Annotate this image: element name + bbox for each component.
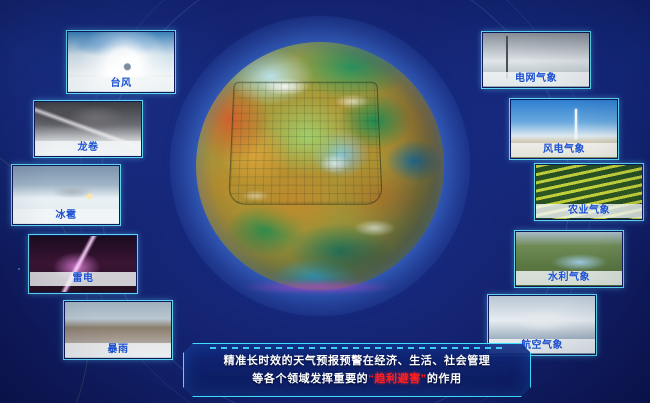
card-power-grid[interactable]: 电网气象 <box>481 31 591 89</box>
card-tornado[interactable]: 龙卷 <box>33 100 143 158</box>
card-water[interactable]: 水利气象 <box>514 230 624 288</box>
card-label-lightning: 雷电 <box>30 272 136 286</box>
weather-globe <box>196 42 444 290</box>
banner-dashed-rule <box>210 347 504 349</box>
banner-line2-suffix: 的作用 <box>427 373 462 385</box>
card-label-wind-power: 风电气象 <box>511 143 617 157</box>
card-label-hail: 冰雹 <box>13 209 119 223</box>
card-lightning[interactable]: 雷电 <box>28 234 138 294</box>
banner-line-2: 等各个领域发挥重要的“趋利避害”的作用 <box>252 371 461 387</box>
card-typhoon[interactable]: 台风 <box>66 30 176 94</box>
card-label-typhoon: 台风 <box>68 77 174 91</box>
card-rainstorm[interactable]: 暴雨 <box>63 300 173 360</box>
card-label-tornado: 龙卷 <box>35 141 141 155</box>
card-wind-power[interactable]: 风电气象 <box>509 98 619 160</box>
card-agriculture[interactable]: 农业气象 <box>534 163 644 221</box>
globe-bottom-glow <box>238 280 398 294</box>
banner-line2-prefix: 等各个领域发挥重要的 <box>252 373 368 385</box>
card-hail[interactable]: 冰雹 <box>11 164 121 226</box>
globe-sphere <box>196 42 444 290</box>
card-label-rainstorm: 暴雨 <box>65 343 171 357</box>
card-label-power-grid: 电网气象 <box>483 72 589 86</box>
slide-stage: 台风 龙卷 冰雹 雷电 暴雨 电网气象 <box>0 0 650 403</box>
banner-line-1: 精准长时效的天气预报预警在经济、生活、社会管理 <box>224 353 491 369</box>
card-label-water: 水利气象 <box>516 271 622 285</box>
decor-spark <box>18 268 20 270</box>
globe-rim-light <box>196 42 444 290</box>
caption-banner: 精准长时效的天气预报预警在经济、生活、社会管理 等各个领域发挥重要的“趋利避害”… <box>183 343 531 397</box>
card-label-agriculture: 农业气象 <box>536 204 642 218</box>
banner-highlight-phrase: 趋利避害 <box>374 373 420 385</box>
